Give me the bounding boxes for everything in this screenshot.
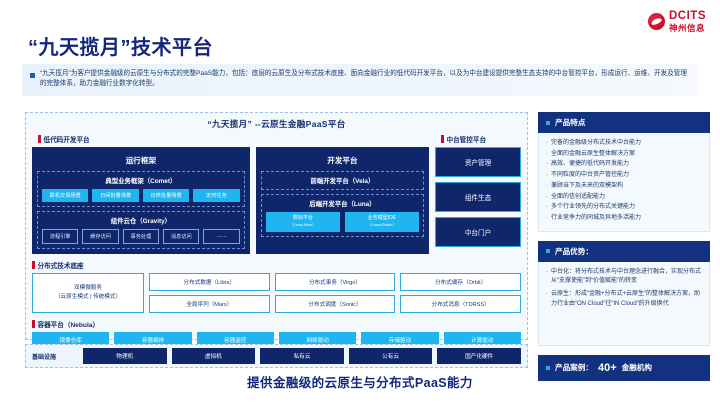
product-features-title: 产品特点: [555, 117, 585, 128]
architecture-board: “九天揽月” --云原生金融PaaS平台 低代码开发平台 运行框架 典型业务框架…: [25, 112, 528, 340]
page-title: “九天揽月”技术平台: [28, 31, 213, 60]
gravity-item[interactable]: 消息访问: [163, 229, 199, 244]
brand-logo-text: DCITS 神州信息: [669, 11, 706, 32]
summary-text: “九天揽月”为客户提供金融级的云原生与分布式的完整PaaS能力，包括：底层的云原…: [40, 69, 690, 89]
feature-item: 不同粒度的中台资产管控能力: [546, 171, 702, 181]
bullet-square-icon: [30, 73, 35, 78]
basetech-section-label: 分布式技术底座: [32, 260, 521, 270]
infrastructure-strip: 基础设施 物理机 虚拟机 私有云 公有云 国产化硬件: [25, 344, 528, 368]
basetech-column: 分布式数据（Libra） 全局序列（Mars）: [149, 273, 270, 313]
feature-item: 兼顾当下及未来的双模架构: [546, 182, 702, 192]
product-case-number: 40+: [598, 362, 617, 374]
gravity-chip-row: 流程引擎 缓存访问 事务处理 消息访问 ……: [42, 229, 240, 244]
gravity-box: 组件云仓（Gravity） 流程引擎 缓存访问 事务处理 消息访问 ……: [37, 211, 245, 249]
brand-name-cn: 神州信息: [669, 24, 706, 33]
feature-item: 完备的金融级分布式技术中台能力: [546, 139, 702, 149]
product-features-card: 产品特点 完备的金融级分布式技术中台能力 全面的金融云原生整体解决方案 高效、便…: [538, 112, 710, 232]
lowcode-panes: 运行框架 典型业务框架（Comet） 联机交易场景 日间批量场景 日终批量场景 …: [32, 147, 429, 254]
backend-tool[interactable]: 业务模型IDE （Luna-Robin）: [345, 212, 419, 232]
basetech-cell[interactable]: 分布式调度（Sonic）: [275, 295, 396, 313]
gravity-item[interactable]: 流程引擎: [42, 229, 78, 244]
summary-banner: “九天揽月”为客户提供金融级的云原生与分布式的完整PaaS能力，包括：底层的云原…: [22, 64, 698, 96]
square-bullet-icon: [546, 121, 550, 125]
infrastructure-item[interactable]: 公有云: [349, 348, 433, 364]
board-title: “九天揽月” --云原生金融PaaS平台: [26, 113, 527, 134]
mgmt-card-asset[interactable]: 资产管理: [435, 147, 521, 177]
backend-tool-name: 业务模型IDE: [368, 215, 396, 221]
product-advantages-title: 产品优势：: [555, 246, 593, 257]
feature-item: 行业竞争力的同城及异地多活能力: [546, 214, 702, 224]
mgmt-column: 中台管控平台 资产管理 组件生态 中台门户: [435, 134, 521, 254]
backend-tool-code: （Luna-Web）: [290, 222, 316, 227]
gravity-title: 组件云仓（Gravity）: [42, 216, 240, 225]
feature-item: 高效、便捷的低代码开发能力: [546, 160, 702, 170]
backend-tool-row: 数标平台 （Luna-Web） 业务模型IDE （Luna-Robin）: [266, 212, 419, 232]
basetech-cell[interactable]: 分布式事务（Virgo）: [275, 273, 396, 291]
gravity-item[interactable]: 缓存访问: [82, 229, 118, 244]
basetech-grid: 双模微服务 （云原生模式 | 传统模式） 分布式数据（Libra） 全局序列（M…: [32, 273, 521, 313]
board-top-row: 低代码开发平台 运行框架 典型业务框架（Comet） 联机交易场景 日间批量场景…: [26, 134, 527, 254]
infrastructure-label: 基础设施: [32, 352, 78, 361]
basetech-cell[interactable]: 分布式消息（TDRSS）: [400, 295, 521, 313]
comet-item[interactable]: 定时任务: [193, 189, 239, 202]
dcits-logo-icon: [648, 13, 665, 30]
comet-title: 典型业务框架（Comet）: [42, 176, 240, 185]
brand-logo: DCITS 神州信息: [648, 11, 706, 32]
feature-item: 多个行业领先的分布式关键能力: [546, 203, 702, 213]
dual-mode-subtitle: （云原生模式 | 传统模式）: [55, 293, 121, 302]
backend-platform-title: 后端开发平台（Luna）: [266, 199, 419, 208]
lowcode-column: 低代码开发平台 运行框架 典型业务框架（Comet） 联机交易场景 日间批量场景…: [32, 134, 429, 254]
infrastructure-item[interactable]: 国产化硬件: [437, 348, 521, 364]
dual-mode-title: 双模微服务: [74, 284, 102, 293]
backend-tool-code: （Luna-Robin）: [368, 222, 397, 227]
advantage-item: 云原生：形成“金融+分布式+云原生”的整体解决方案，助力行业由“ON Cloud…: [546, 290, 702, 309]
development-platform-title: 开发平台: [261, 152, 424, 171]
backend-platform-box: 后端开发平台（Luna） 数标平台 （Luna-Web） 业务模型IDE （Lu…: [261, 194, 424, 237]
comet-item[interactable]: 日终批量场景: [143, 189, 189, 202]
gravity-item[interactable]: ……: [203, 229, 239, 244]
basetech-cell[interactable]: 全局序列（Mars）: [149, 295, 270, 313]
basetech-cell[interactable]: 分布式缓存（Orbit）: [400, 273, 521, 291]
runtime-framework-panel: 运行框架 典型业务框架（Comet） 联机交易场景 日间批量场景 日终批量场景 …: [32, 147, 250, 254]
square-bullet-icon: [546, 249, 550, 253]
gravity-item[interactable]: 事务处理: [123, 229, 159, 244]
product-advantages-body: 中台化：将分布式技术与中台理念进行融合，实现分布式从“支撑使能”到“价值赋能”的…: [538, 262, 710, 346]
basetech-section: 分布式技术底座 双模微服务 （云原生模式 | 传统模式） 分布式数据（Libra…: [26, 254, 527, 313]
product-features-body: 完备的金融级分布式技术中台能力 全面的金融云原生整体解决方案 高效、便捷的低代码…: [538, 133, 710, 232]
infrastructure-item[interactable]: 私有云: [260, 348, 344, 364]
comet-item[interactable]: 日间批量场景: [92, 189, 138, 202]
square-bullet-icon: [546, 366, 550, 370]
basetech-column: 分布式事务（Virgo） 分布式调度（Sonic）: [275, 273, 396, 313]
feature-item: 全面的金融云原生整体解决方案: [546, 150, 702, 160]
mgmt-card-component[interactable]: 组件生态: [435, 182, 521, 212]
right-rail: 产品特点 完备的金融级分布式技术中台能力 全面的金融云原生整体解决方案 高效、便…: [538, 112, 710, 381]
development-platform-panel: 开发平台 前端开发平台（Vela） 后端开发平台（Luna） 数标平台 （Lun…: [256, 147, 429, 254]
basetech-cell[interactable]: 分布式数据（Libra）: [149, 273, 270, 291]
basetech-columns: 分布式数据（Libra） 全局序列（Mars） 分布式事务（Virgo） 分布式…: [149, 273, 521, 313]
infrastructure-item[interactable]: 虚拟机: [172, 348, 256, 364]
frontend-platform-bar[interactable]: 前端开发平台（Vela）: [261, 171, 424, 190]
feature-item: 全面的信创适配能力: [546, 193, 702, 203]
comet-chip-row: 联机交易场景 日间批量场景 日终批量场景 定时任务: [42, 189, 240, 202]
backend-tool-name: 数标平台: [293, 215, 313, 221]
advantage-item: 中台化：将分布式技术与中台理念进行融合，实现分布式从“支撑使能”到“价值赋能”的…: [546, 268, 702, 287]
product-advantages-header: 产品优势：: [538, 241, 710, 262]
comet-box: 典型业务框架（Comet） 联机交易场景 日间批量场景 日终批量场景 定时任务: [37, 171, 245, 207]
basetech-column: 分布式缓存（Orbit） 分布式消息（TDRSS）: [400, 273, 521, 313]
product-features-header: 产品特点: [538, 112, 710, 133]
slide-root: DCITS 神州信息 “九天揽月”技术平台 “九天揽月”为客户提供金融级的云原生…: [0, 0, 720, 405]
product-case-banner: 产品案例： 40+ 金融机构: [538, 355, 710, 381]
infrastructure-item[interactable]: 物理机: [83, 348, 167, 364]
brand-name-en: DCITS: [669, 11, 706, 23]
product-advantages-card: 产品优势： 中台化：将分布式技术与中台理念进行融合，实现分布式从“支撑使能”到“…: [538, 241, 710, 346]
comet-item[interactable]: 联机交易场景: [42, 189, 88, 202]
runtime-framework-title: 运行框架: [37, 152, 245, 171]
product-case-suffix: 金融机构: [622, 362, 652, 373]
container-section-label: 容器平台（Nebula）: [32, 319, 521, 329]
dual-mode-microservice[interactable]: 双模微服务 （云原生模式 | 传统模式）: [32, 273, 144, 313]
backend-tool[interactable]: 数标平台 （Luna-Web）: [266, 212, 340, 232]
mgmt-section-label: 中台管控平台: [441, 134, 521, 144]
lowcode-section-label: 低代码开发平台: [38, 134, 429, 144]
product-case-label: 产品案例：: [555, 362, 593, 373]
mgmt-card-portal[interactable]: 中台门户: [435, 217, 521, 247]
